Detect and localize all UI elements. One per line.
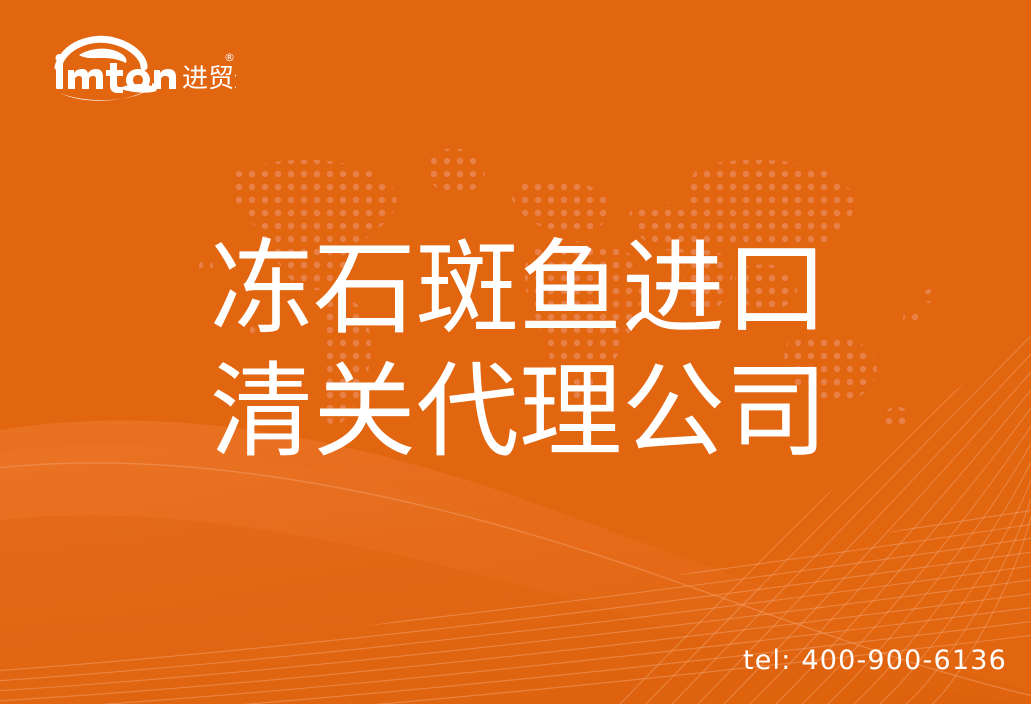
brand-logo[interactable]: 进贸通 ® bbox=[36, 33, 236, 105]
page-title: 冻石斑鱼进口 清关代理公司 bbox=[210, 228, 850, 474]
promo-banner: 进贸通 ® 冻石斑鱼进口 清关代理公司 tel: 400-900-6136 bbox=[0, 0, 1031, 704]
contact-phone[interactable]: tel: 400-900-6136 bbox=[743, 645, 1007, 676]
headline-line-2: 清关代理公司 bbox=[210, 351, 850, 474]
logo-wordmark bbox=[56, 54, 177, 93]
headline-line-1: 冻石斑鱼进口 bbox=[210, 228, 850, 351]
logo-chinese-name: 进贸通 bbox=[182, 64, 236, 94]
logo-trademark: ® bbox=[224, 51, 235, 64]
